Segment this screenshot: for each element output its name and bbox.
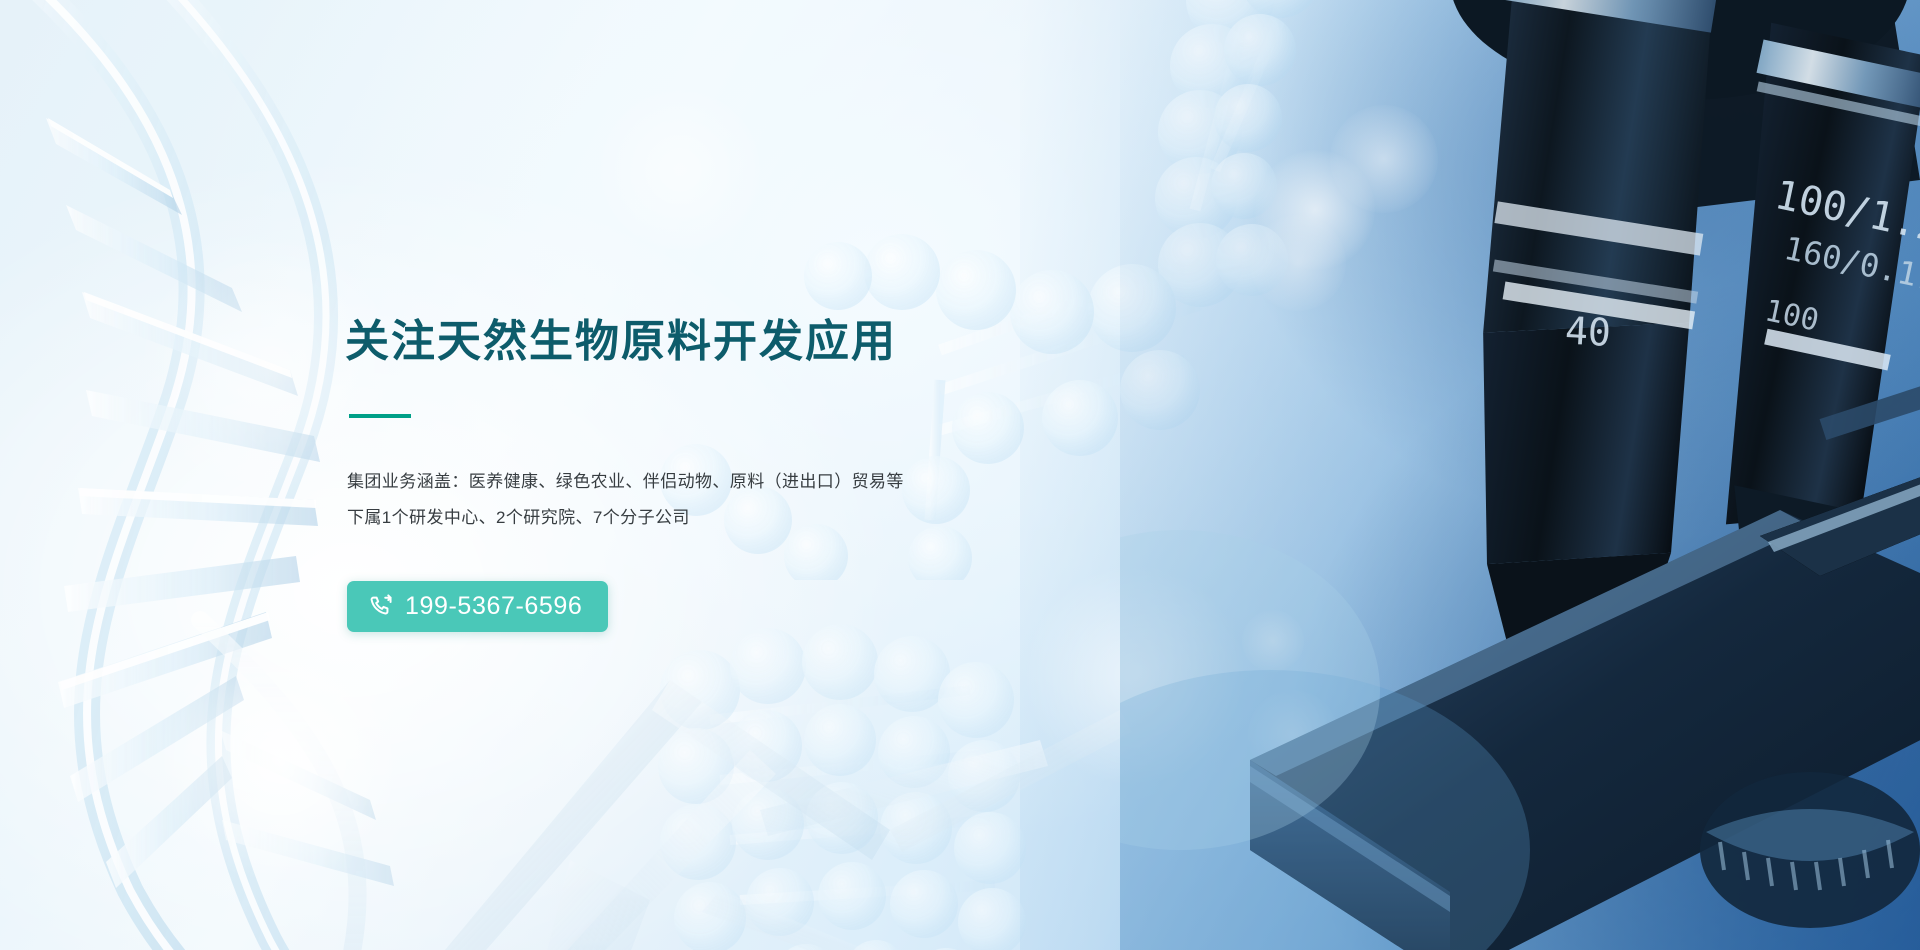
hero-content: 关注天然生物原料开发应用 集团业务涵盖：医养健康、绿色农业、伴侣动物、原料（进出… bbox=[345, 316, 1045, 632]
description-line-1: 集团业务涵盖：医养健康、绿色农业、伴侣动物、原料（进出口）贸易等 bbox=[347, 464, 1045, 501]
hero-banner: 100/1.25 160/0.17 100 40 bbox=[0, 0, 1920, 950]
hero-description: 集团业务涵盖：医养健康、绿色农业、伴侣动物、原料（进出口）贸易等 下属1个研发中… bbox=[347, 464, 1045, 537]
page-title: 关注天然生物原料开发应用 bbox=[345, 316, 1045, 368]
phone-forward-icon bbox=[369, 594, 394, 619]
phone-number-label: 199-5367-6596 bbox=[405, 594, 582, 619]
title-divider bbox=[349, 414, 411, 418]
microscope-image: 100/1.25 160/0.17 100 40 bbox=[1120, 0, 1920, 950]
call-phone-button[interactable]: 199-5367-6596 bbox=[347, 581, 608, 632]
description-line-2: 下属1个研发中心、2个研究院、7个分子公司 bbox=[347, 500, 1045, 537]
svg-text:40: 40 bbox=[1564, 309, 1612, 355]
